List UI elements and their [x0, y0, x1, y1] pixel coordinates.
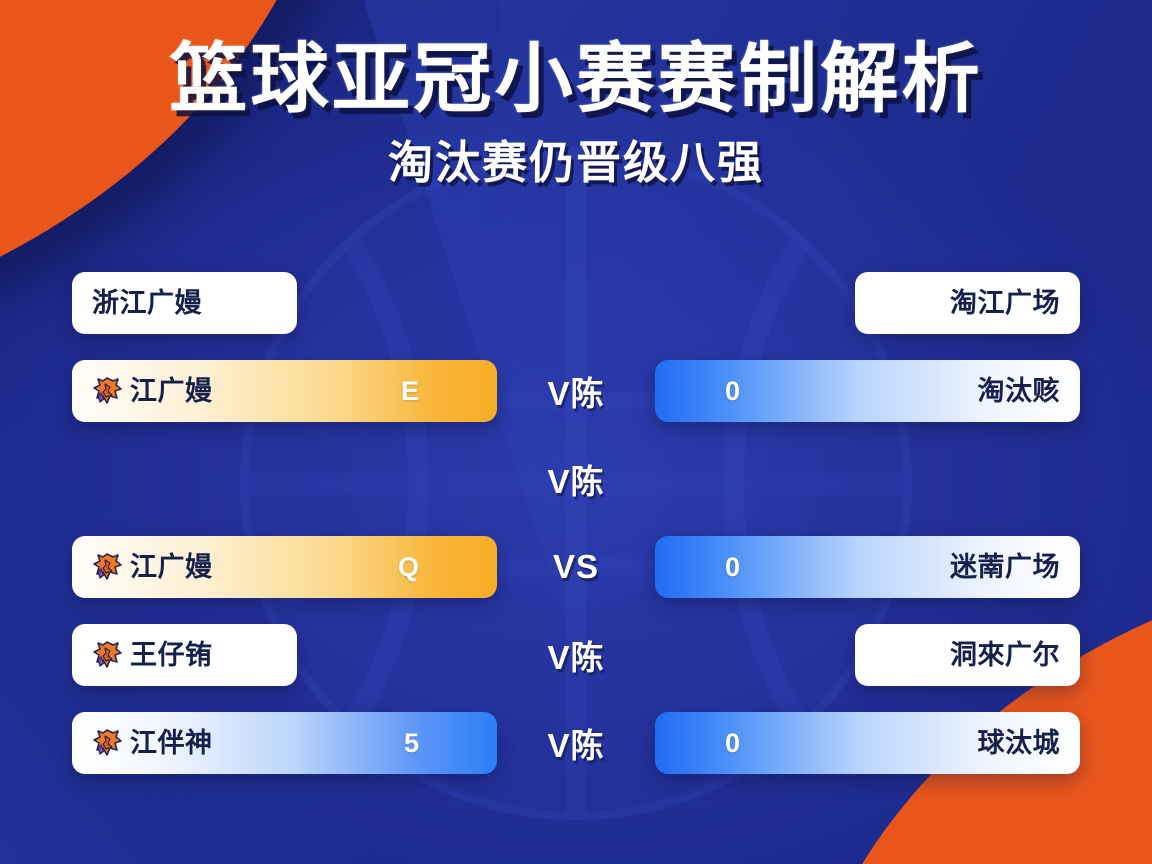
match-row: V陈	[72, 448, 1080, 510]
team-pill[interactable]: 浙江广嫚	[72, 272, 297, 334]
team-pill[interactable]: 迷萳广场0	[655, 536, 1080, 598]
team-pill-content: 浙江广嫚	[72, 272, 297, 334]
match-row: 江伴神5V陈球汰城0	[72, 712, 1080, 774]
team-name: 江伴神	[130, 730, 213, 757]
team-pill-content: 淘江广场	[855, 272, 1080, 334]
team-score: 0	[725, 730, 740, 757]
team-pill[interactable]: 淘江广场	[855, 272, 1080, 334]
team-pill[interactable]: 江广嫚Q	[72, 536, 497, 598]
page-subtitle: 淘汰赛仍晋级八强	[0, 140, 1152, 185]
match-row-right-slot: 球汰城0	[650, 712, 1080, 774]
team-name: 王仔铕	[130, 642, 213, 669]
match-separator-slot: V陈	[502, 367, 650, 415]
match-separator-slot: VS	[502, 548, 650, 586]
team-pill-content: 球汰城0	[655, 712, 1080, 774]
team-name: 淘汰赅	[978, 378, 1061, 405]
team-name: 迷萳广场	[950, 554, 1060, 581]
team-pill-content: 迷萳广场0	[655, 536, 1080, 598]
team-name: 浙江广嫚	[92, 290, 202, 317]
match-row-left-slot: 江广嫚Q	[72, 536, 502, 598]
team-pill-content: 江广嫚Q	[72, 536, 497, 598]
match-row-left-slot: 浙江广嫚	[72, 272, 502, 334]
match-separator-slot: V陈	[502, 719, 650, 767]
team-score: 0	[725, 378, 740, 405]
team-pill-content: 淘汰赅0	[655, 360, 1080, 422]
team-name: 江广嫚	[130, 554, 213, 581]
team-pill-content: 江伴神5	[72, 712, 497, 774]
match-row: 江广嫚QVS迷萳广场0	[72, 536, 1080, 598]
match-row-right-slot: 洞來广尔	[650, 624, 1080, 686]
poster-header: 篮球亚冠小赛赛制解析 淘汰赛仍晋级八强	[0, 42, 1152, 185]
team-logo-icon	[92, 551, 124, 583]
vs-separator-label: V陈	[547, 631, 604, 679]
team-name: 球汰城	[978, 730, 1061, 757]
match-separator-slot: V陈	[502, 455, 650, 503]
match-row-left-slot: 江伴神5	[72, 712, 502, 774]
match-bracket: 浙江广嫚淘江广场江广嫚EV陈淘汰赅0V陈江广嫚QVS迷萳广场0王仔铕V陈洞來广尔…	[0, 272, 1152, 774]
match-separator-slot: V陈	[502, 631, 650, 679]
team-pill[interactable]: 球汰城0	[655, 712, 1080, 774]
vs-separator-label: VS	[553, 548, 599, 586]
vs-separator-label: V陈	[547, 719, 604, 767]
team-pill-content: 江广嫚E	[72, 360, 497, 422]
team-logo-icon	[92, 639, 124, 671]
match-row-right-slot: 迷萳广场0	[650, 536, 1080, 598]
team-score: 0	[725, 554, 740, 581]
team-logo-icon	[92, 727, 124, 759]
team-pill[interactable]: 江广嫚E	[72, 360, 497, 422]
team-pill-content: 王仔铕	[72, 624, 297, 686]
vs-separator-label: V陈	[547, 455, 604, 503]
team-logo-icon	[92, 375, 124, 407]
match-row: 浙江广嫚淘江广场	[72, 272, 1080, 334]
match-row-right-slot: 淘江广场	[650, 272, 1080, 334]
team-pill[interactable]: 洞來广尔	[855, 624, 1080, 686]
match-row-left-slot: 江广嫚E	[72, 360, 502, 422]
team-name: 洞來广尔	[950, 642, 1060, 669]
vs-separator-label: V陈	[547, 367, 604, 415]
team-pill[interactable]: 江伴神5	[72, 712, 497, 774]
team-name: 江广嫚	[130, 378, 213, 405]
match-row-right-slot: 淘汰赅0	[650, 360, 1080, 422]
team-name: 淘江广场	[950, 290, 1060, 317]
match-row: 江广嫚EV陈淘汰赅0	[72, 360, 1080, 422]
match-row: 王仔铕V陈洞來广尔	[72, 624, 1080, 686]
team-pill[interactable]: 淘汰赅0	[655, 360, 1080, 422]
team-score: Q	[398, 554, 419, 581]
page-title: 篮球亚冠小赛赛制解析	[0, 42, 1152, 118]
team-pill[interactable]: 王仔铕	[72, 624, 297, 686]
team-score: E	[401, 378, 419, 405]
team-pill-content: 洞來广尔	[855, 624, 1080, 686]
team-score: 5	[404, 730, 419, 757]
match-row-left-slot: 王仔铕	[72, 624, 502, 686]
